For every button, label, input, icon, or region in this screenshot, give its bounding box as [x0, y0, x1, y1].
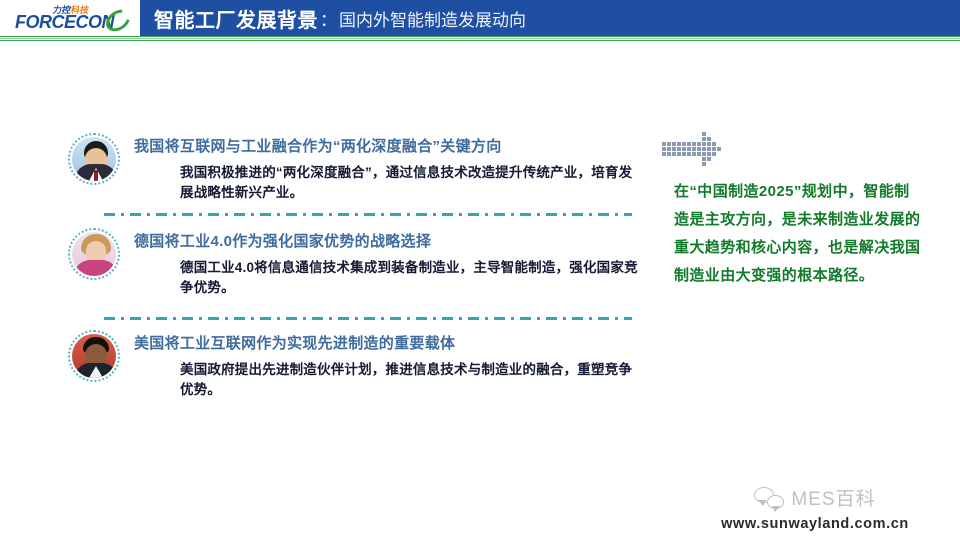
- list-item-body: 美国政府提出先进制造伙伴计划，推进信息技术与制造业的融合，重塑竞争优势。: [180, 360, 640, 400]
- list-item-body: 德国工业4.0将信息通信技术集成到装备制造业，主导智能制造，强化国家竞争优势。: [180, 258, 640, 298]
- list-item-heading: 我国将互联网与工业融合作为“两化深度融合”关键方向: [134, 137, 634, 157]
- list-item: 德国将工业4.0作为强化国家优势的战略选择 德国工业4.0将信息通信技术集成到装…: [62, 220, 642, 322]
- list-item-heading: 美国将工业互联网作为实现先进制造的重要载体: [134, 334, 634, 354]
- avatar-china-leader: [68, 133, 120, 185]
- watermark: MES百科 www.sunwayland.com.cn: [684, 484, 946, 532]
- list-item-heading: 德国将工业4.0作为强化国家优势的战略选择: [134, 232, 634, 252]
- item-divider: [104, 213, 632, 216]
- slide-header: 力控科技 FORCECON 智能工厂发展背景 ： 国内外智能制造发展动向: [0, 0, 960, 36]
- conclusion-panel: 在“中国制造2025”规划中，智能制造是主攻方向，是未来制造业发展的重大趋势和核…: [660, 132, 945, 290]
- conclusion-text: 在“中国制造2025”规划中，智能制造是主攻方向，是未来制造业发展的重大趋势和核…: [674, 178, 924, 290]
- pixel-arrow-right-icon: [662, 132, 740, 166]
- item-divider: [104, 317, 632, 320]
- brand-logo: 力控科技 FORCECON: [0, 0, 140, 36]
- wechat-icon: [754, 487, 784, 509]
- title-separator: ：: [318, 6, 339, 31]
- avatar-germany-leader: [68, 228, 120, 280]
- page-subtitle: 国内外智能制造发展动向: [339, 6, 526, 31]
- title-banner: 智能工厂发展背景 ： 国内外智能制造发展动向: [140, 0, 960, 36]
- list-item: 我国将互联网与工业融合作为“两化深度融合”关键方向 我国积极推进的“两化深度融合…: [62, 125, 642, 220]
- key-points-list: 我国将互联网与工业融合作为“两化深度融合”关键方向 我国积极推进的“两化深度融合…: [62, 125, 642, 425]
- logo-wordmark: FORCECON: [15, 12, 114, 33]
- page-title: 智能工厂发展背景: [154, 4, 318, 33]
- watermark-url: www.sunwayland.com.cn: [684, 516, 946, 532]
- list-item-body: 我国积极推进的“两化深度融合”，通过信息技术改造提升传统产业，培育发展战略性新兴…: [180, 163, 640, 203]
- avatar-usa-leader: [68, 330, 120, 382]
- header-divider: [0, 36, 960, 41]
- watermark-account: MES百科: [791, 484, 875, 511]
- list-item: 美国将工业互联网作为实现先进制造的重要载体 美国政府提出先进制造伙伴计划，推进信…: [62, 322, 642, 417]
